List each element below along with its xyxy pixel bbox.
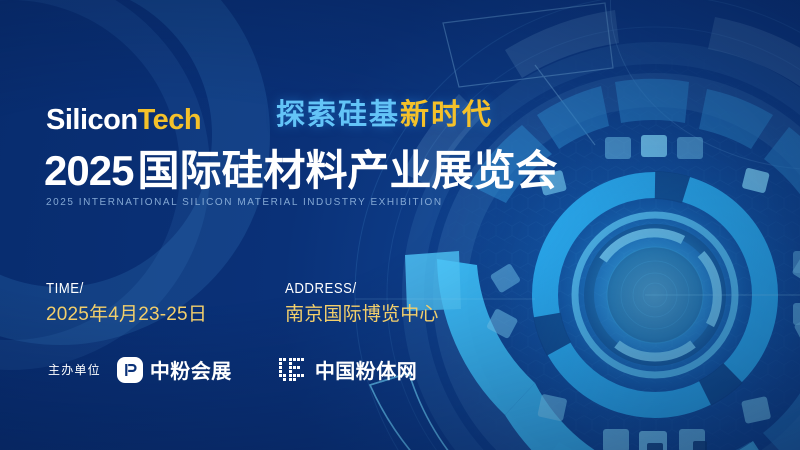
event-time-label: TIME/ bbox=[46, 281, 188, 296]
tagline-accent: 新时代 bbox=[400, 99, 493, 131]
event-meta: TIME/ 2025年4月23-25日 ADDRESS/ 南京国际博览中心 bbox=[46, 281, 439, 324]
poster-content: SiliconTech 探索硅基新时代 2025国际硅材料产业展览会 2025 … bbox=[0, 0, 800, 450]
page-subtitle: 2025 INTERNATIONAL SILICON MATERIAL INDU… bbox=[46, 197, 443, 208]
sponsor-brand-cnpowder-name: 中国粉体网 bbox=[315, 355, 418, 384]
event-time-block: TIME/ 2025年4月23-25日 bbox=[46, 281, 207, 324]
pixel-block-logo-icon bbox=[278, 357, 308, 383]
tagline: 探索硅基新时代 bbox=[276, 101, 493, 130]
tagline-primary: 探索硅基 bbox=[276, 99, 400, 131]
brand-logo: SiliconTech bbox=[46, 106, 201, 135]
event-address-value: 南京国际博览中心 bbox=[285, 305, 439, 324]
p-rounded-square-logo-icon bbox=[117, 357, 143, 383]
brand-logo-primary: Silicon bbox=[46, 104, 138, 136]
sponsors-row: 主办单位 中粉会展 bbox=[48, 355, 417, 384]
sponsor-brand-zhongfen-name: 中粉会展 bbox=[150, 355, 232, 384]
headline-text: 国际硅材料产业展览会 bbox=[137, 147, 557, 194]
sponsor-brand-cnpowder[interactable]: 中国粉体网 bbox=[278, 355, 418, 384]
brand-logo-secondary: Tech bbox=[138, 104, 202, 136]
page-title: 2025国际硅材料产业展览会 bbox=[44, 148, 557, 193]
event-address-label: ADDRESS/ bbox=[285, 281, 420, 296]
event-time-value: 2025年4月23-25日 bbox=[46, 305, 207, 324]
headline-year: 2025 bbox=[44, 147, 137, 194]
sponsor-label: 主办单位 bbox=[48, 361, 101, 378]
event-address-block: ADDRESS/ 南京国际博览中心 bbox=[285, 281, 439, 324]
sponsor-brand-zhongfen[interactable]: 中粉会展 bbox=[117, 355, 232, 384]
poster-canvas: SiliconTech 探索硅基新时代 2025国际硅材料产业展览会 2025 … bbox=[0, 0, 800, 450]
